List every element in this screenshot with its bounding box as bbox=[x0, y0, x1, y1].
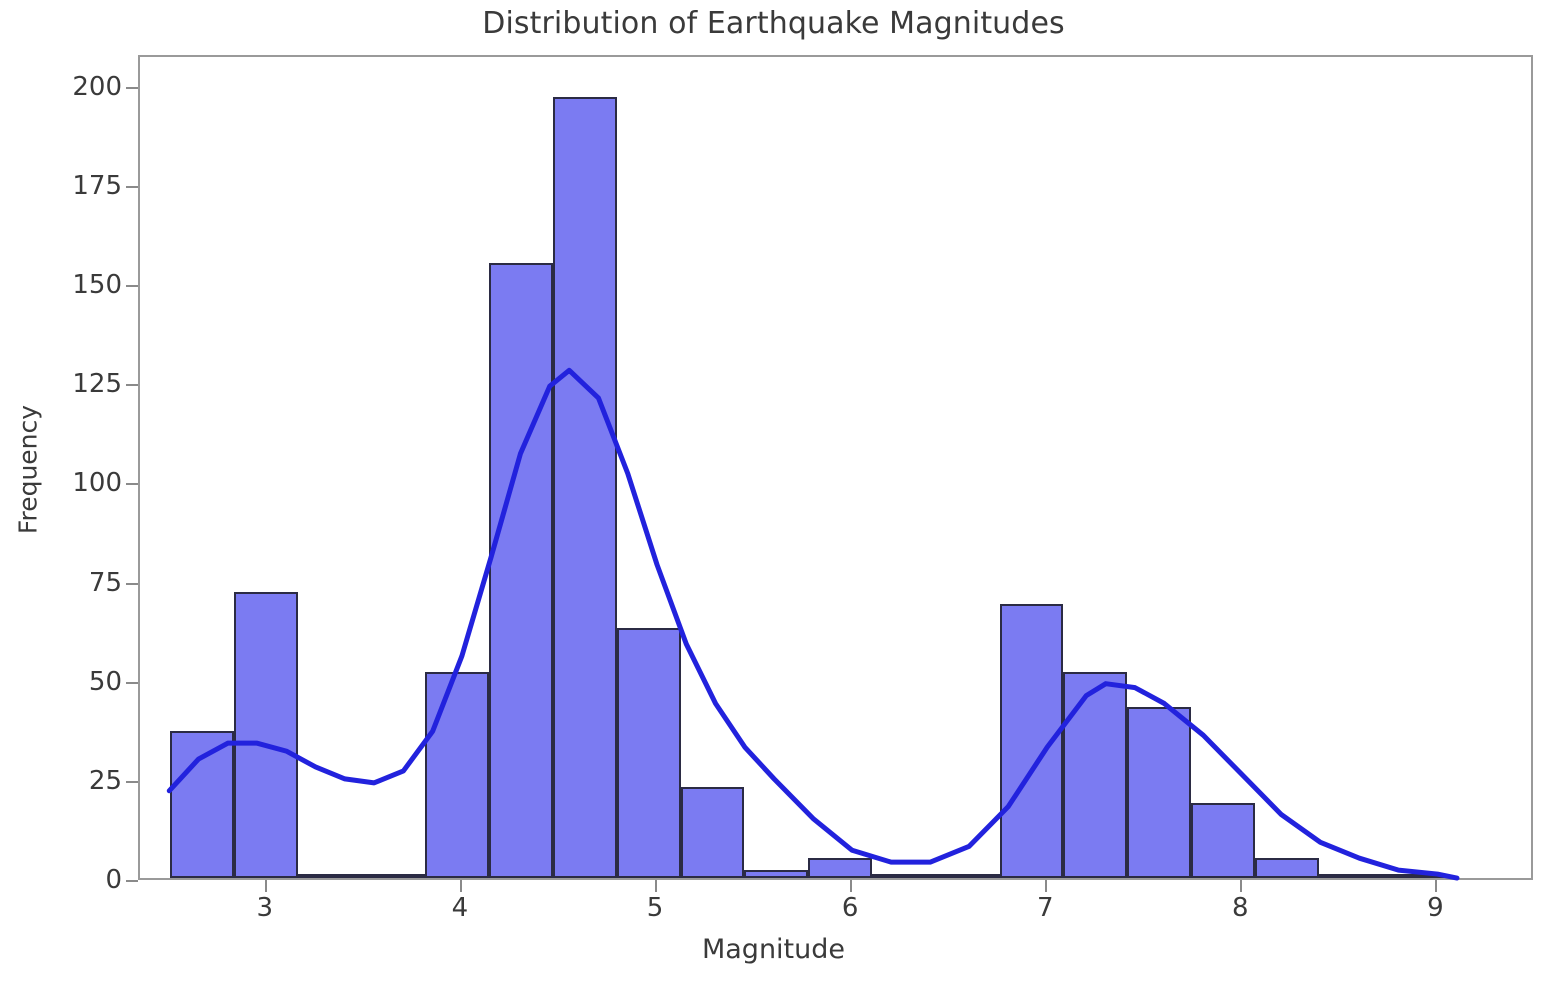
histogram-bar bbox=[681, 787, 745, 878]
x-tick-mark bbox=[655, 880, 657, 892]
y-tick-label: 0 bbox=[2, 865, 122, 895]
x-tick-mark bbox=[460, 880, 462, 892]
x-tick-label: 5 bbox=[615, 893, 695, 923]
histogram-bar bbox=[298, 874, 362, 878]
x-tick-label: 3 bbox=[225, 893, 305, 923]
x-axis-label: Magnitude bbox=[0, 934, 1547, 965]
histogram-bar bbox=[489, 263, 553, 878]
histogram-bar bbox=[1000, 604, 1064, 878]
x-tick-label: 8 bbox=[1200, 893, 1280, 923]
histogram-bar bbox=[170, 731, 234, 878]
y-tick-label: 25 bbox=[2, 766, 122, 796]
histogram-bar bbox=[234, 592, 298, 878]
plot-area bbox=[138, 55, 1533, 880]
x-tick-mark bbox=[850, 880, 852, 892]
histogram-bar bbox=[808, 858, 872, 878]
x-tick-label: 9 bbox=[1395, 893, 1475, 923]
y-tick-mark bbox=[126, 285, 138, 287]
x-tick-mark bbox=[1435, 880, 1437, 892]
y-axis-label: Frequency bbox=[14, 210, 43, 730]
histogram-bar bbox=[744, 870, 808, 878]
y-tick-label: 200 bbox=[2, 72, 122, 102]
histogram-bar bbox=[936, 874, 1000, 878]
x-tick-mark bbox=[265, 880, 267, 892]
x-tick-mark bbox=[1240, 880, 1242, 892]
histogram-bar bbox=[1382, 874, 1446, 878]
chart-title: Distribution of Earthquake Magnitudes bbox=[0, 6, 1547, 41]
histogram-bar bbox=[553, 97, 617, 878]
kde-curve bbox=[140, 57, 1531, 878]
histogram-bar bbox=[872, 874, 936, 878]
plot-inner bbox=[140, 57, 1531, 878]
y-tick-mark bbox=[126, 483, 138, 485]
histogram-bar bbox=[1191, 803, 1255, 878]
y-tick-mark bbox=[126, 583, 138, 585]
histogram-bar bbox=[362, 874, 426, 878]
histogram-bar bbox=[1255, 858, 1319, 878]
y-tick-mark bbox=[126, 682, 138, 684]
histogram-bar bbox=[1063, 672, 1127, 878]
x-tick-label: 7 bbox=[1005, 893, 1085, 923]
histogram-bar bbox=[1127, 707, 1191, 878]
chart-figure: Distribution of Earthquake Magnitudes 02… bbox=[0, 0, 1547, 985]
y-tick-mark bbox=[126, 186, 138, 188]
y-tick-label: 175 bbox=[2, 171, 122, 201]
histogram-bar bbox=[1319, 874, 1383, 878]
x-tick-mark bbox=[1045, 880, 1047, 892]
histogram-bar bbox=[617, 628, 681, 878]
y-tick-mark bbox=[126, 781, 138, 783]
y-tick-mark bbox=[126, 384, 138, 386]
x-tick-label: 6 bbox=[810, 893, 890, 923]
y-tick-mark bbox=[126, 87, 138, 89]
histogram-bar bbox=[425, 672, 489, 878]
x-tick-label: 4 bbox=[420, 893, 500, 923]
y-tick-mark bbox=[126, 880, 138, 882]
